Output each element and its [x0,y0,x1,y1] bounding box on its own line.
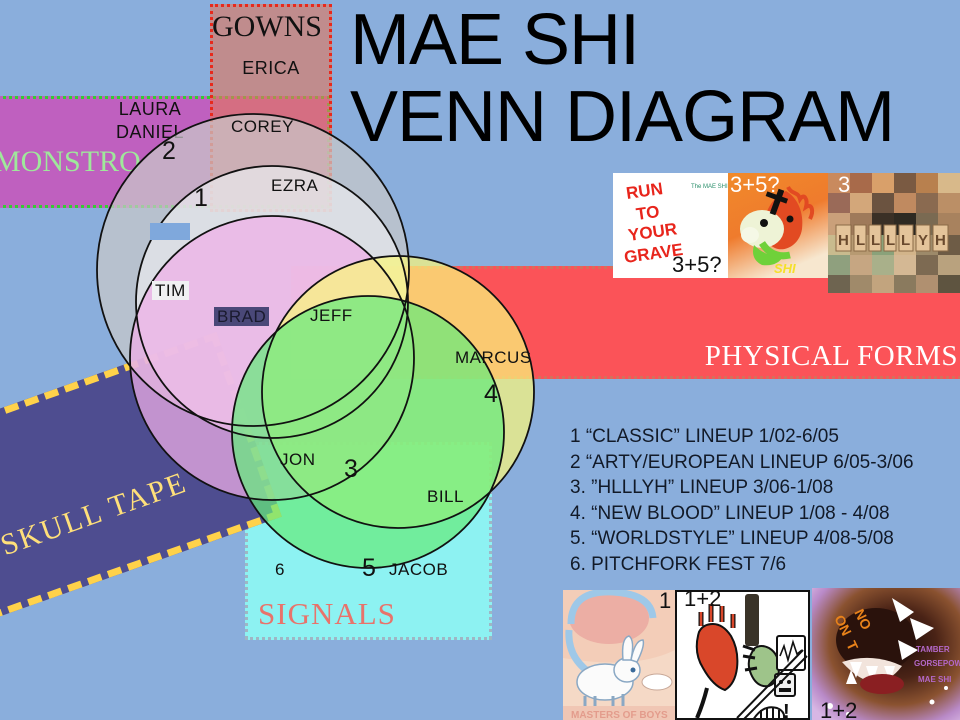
album-caption-6: 1+2 [820,698,857,720]
venn-member-marcus: MARCUS [452,348,535,368]
physical-forms-label: PHYSICAL FORMS [705,340,958,373]
venn-member-bill: BILL [424,487,467,507]
page-title-line-2: VENN DIAGRAM [350,79,894,156]
svg-text:H: H [838,232,849,249]
album-caption-5: 1+2 [684,586,721,612]
venn-member-tim: TIM [152,281,189,301]
svg-text:TO: TO [635,202,661,224]
svg-text:H: H [935,232,946,249]
venn-region-number-4: 4 [484,380,498,409]
svg-text:L: L [871,232,880,249]
venn-member-jon: JON [277,450,319,470]
venn-member-brad: BRAD [214,307,269,327]
svg-text:Y: Y [918,232,928,249]
svg-text:The MAE SHI: The MAE SHI [691,184,728,190]
venn-member-jeff: JEFF [307,306,356,326]
svg-text:MAE SHI: MAE SHI [918,675,951,684]
signals-number: 6 [275,560,284,580]
blue-rectangle-artifact [150,223,190,240]
venn-region-number-2: 2 [162,137,176,166]
lineup-legend: 1 “CLASSIC” LINEUP 1/02-6/052 “ARTY/EURO… [570,424,914,577]
svg-text:TAMBER: TAMBER [916,645,950,654]
svg-text:L: L [856,232,865,249]
svg-text:MASTERS OF BOYS: MASTERS OF BOYS [571,710,668,720]
album-caption-4: 1 [659,588,671,614]
venn-member-jacob: JACOB [386,560,451,580]
lineup-item-2: 2 “ARTY/EUROPEAN LINEUP 6/05-3/06 [570,450,914,476]
svg-text:L: L [901,232,910,249]
svg-text:SHI: SHI [774,261,796,276]
signals-label: SIGNALS [258,596,396,632]
album-caption-3: 3 [838,172,850,198]
venn-region-number-3: 3 [344,455,358,484]
lineup-item-6: 6. PITCHFORK FEST 7/6 [570,552,914,578]
page-title-line-1: MAE SHI [350,2,894,79]
album-caption-1: 3+5? [672,252,722,278]
svg-text:GORSEPOWER: GORSEPOWER [914,659,960,668]
album-caption-2: 3+5? [730,172,780,198]
lineup-item-1: 1 “CLASSIC” LINEUP 1/02-6/05 [570,424,914,450]
venn-member-ezra: EZRA [268,176,321,196]
venn-member-corey: COREY [228,117,297,137]
venn-region-number-1: 1 [194,184,208,213]
venn-region-number-5: 5 [362,554,376,583]
page-title: MAE SHI VENN DIAGRAM [350,2,894,156]
svg-text:!: ! [783,701,790,720]
slide-canvas: LAURA DANIEL MONSTRO GOWNS ERICA PHYSICA… [0,0,960,720]
lineup-item-3: 3. ”HLLLYH” LINEUP 3/06-1/08 [570,475,914,501]
svg-text:L: L [886,232,895,249]
lineup-item-4: 4. “NEW BLOOD” LINEUP 1/08 - 4/08 [570,501,914,527]
lineup-item-5: 5. “WORLDSTYLE” LINEUP 4/08-5/08 [570,526,914,552]
